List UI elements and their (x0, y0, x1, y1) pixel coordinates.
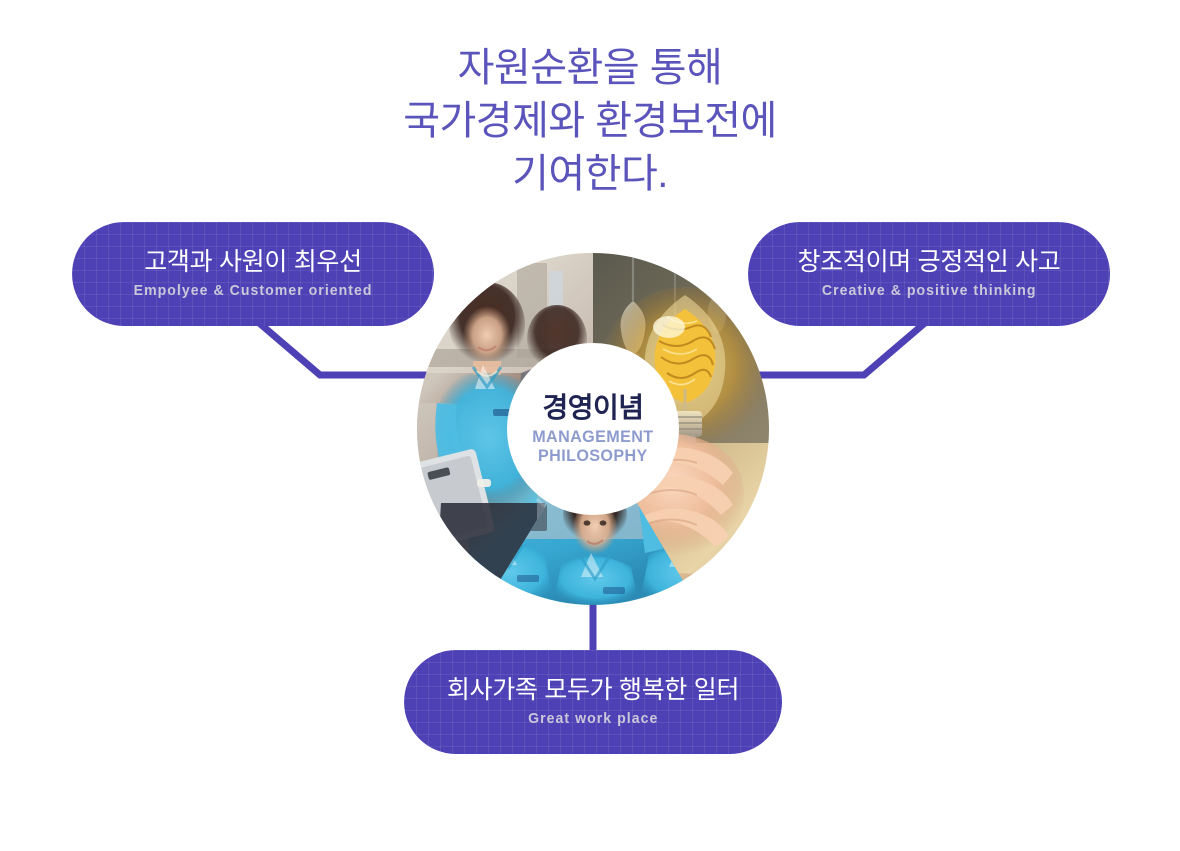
badge-label-ko: 고객과 사원이 최우선 (144, 248, 362, 277)
badge-label-en: Empolyee & Customer oriented (134, 282, 373, 300)
badge-label-ko: 회사가족 모두가 행복한 일터 (447, 676, 739, 705)
page-title: 자원순환을 통해 국가경제와 환경보전에 기여한다. (0, 42, 1180, 200)
badge-label-en: Great work place (528, 710, 658, 728)
badge-employee-customer-oriented[interactable]: 고객과 사원이 최우선 Empolyee & Customer oriented (72, 222, 434, 326)
badge-creative-positive-thinking[interactable]: 창조적이며 긍정적인 사고 Creative & positive thinki… (748, 222, 1110, 326)
badge-label-en: Creative & positive thinking (822, 282, 1037, 300)
connector-right (742, 322, 926, 375)
badge-great-work-place[interactable]: 회사가족 모두가 행복한 일터 Great work place (404, 650, 782, 754)
badge-label-ko: 창조적이며 긍정적인 사고 (798, 248, 1061, 277)
infographic-canvas: 자원순환을 통해 국가경제와 환경보전에 기여한다. (0, 0, 1180, 851)
center-title-ko: 경영이념 (542, 393, 643, 422)
center-title-en: MANAGEMENT PHILOSOPHY (532, 427, 653, 465)
center-hub: 경영이념 MANAGEMENT PHILOSOPHY (507, 343, 679, 515)
